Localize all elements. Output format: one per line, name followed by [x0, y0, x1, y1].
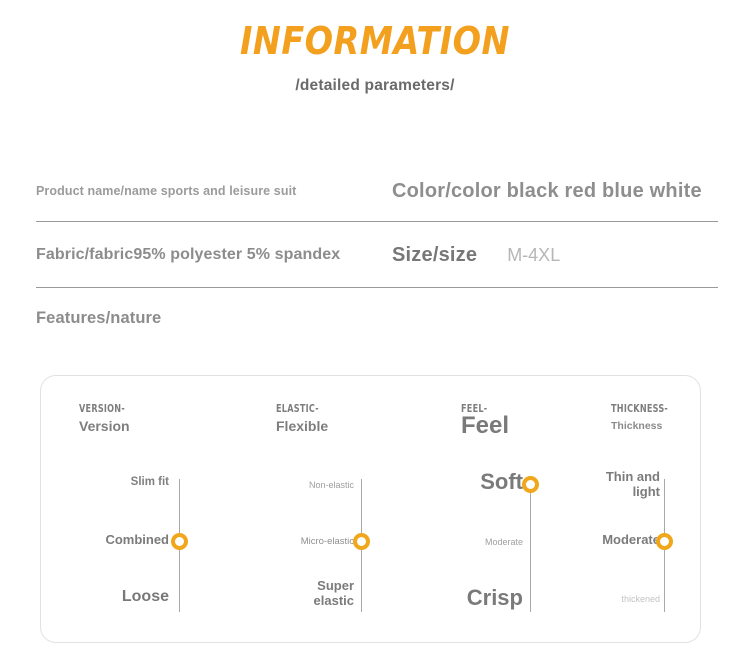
table-row: Product name/name sports and leisure sui… — [36, 160, 718, 222]
fabric-label: Fabric/fabric95% polyester 5% spandex — [36, 246, 340, 264]
spec-cell-fabric: Fabric/fabric95% polyester 5% spandex — [36, 246, 392, 264]
tick-label-1: Combined — [59, 533, 169, 548]
slider-marker[interactable] — [171, 533, 188, 550]
column-caption-en: ELASTIC- — [276, 402, 319, 415]
attributes-card: VERSION- Version Slim fit Combined Loose… — [40, 375, 701, 643]
tick-label-2: Super elastic — [244, 579, 354, 608]
table-row: Features/nature — [36, 288, 718, 348]
spec-cell-size: Size/size M-4XL — [392, 244, 718, 267]
tick-label-2: thickened — [550, 594, 660, 604]
tick-label-1: Micro-elastic — [244, 537, 354, 548]
tick-label-2: Crisp — [413, 586, 523, 611]
table-row: Fabric/fabric95% polyester 5% spandex Si… — [36, 222, 718, 288]
page-title: INFORMATION — [45, 18, 705, 64]
slider-marker[interactable] — [656, 533, 673, 550]
tick-label-0: Non-elastic — [244, 480, 354, 490]
tick-label-1: Moderate — [413, 537, 523, 547]
spec-cell-features: Features/nature — [36, 309, 392, 328]
slider-track[interactable] — [530, 490, 531, 612]
attribute-column-elastic: ELASTIC- Flexible Non-elastic Micro-elas… — [256, 376, 426, 644]
column-caption-sub: Thickness — [611, 420, 662, 432]
tick-label-0: Slim fit — [59, 476, 169, 489]
attribute-column-version: VERSION- Version Slim fit Combined Loose — [79, 376, 249, 644]
tick-label-1: Moderate — [550, 533, 660, 548]
slider-marker[interactable] — [522, 476, 539, 493]
page-subtitle: /detailed parameters/ — [0, 77, 750, 95]
column-caption-sub: Version — [79, 418, 130, 434]
spec-cell-color: Color/color black red blue white — [392, 180, 718, 203]
tick-label-0: Thin and light — [550, 470, 660, 499]
tick-label-0: Soft — [413, 470, 523, 495]
spec-cell-product-name: Product name/name sports and leisure sui… — [36, 184, 392, 198]
features-label: Features/nature — [36, 309, 161, 328]
slider-marker[interactable] — [353, 533, 370, 550]
column-caption-en: THICKNESS- — [611, 402, 668, 415]
attribute-column-thickness: THICKNESS- Thickness Thin and light Mode… — [594, 376, 744, 644]
color-label: Color/color black red blue white — [392, 180, 702, 203]
column-caption-sub: Flexible — [276, 418, 328, 434]
tick-label-2: Loose — [59, 588, 169, 606]
spec-table: Product name/name sports and leisure sui… — [36, 160, 718, 348]
size-label: Size/size — [392, 244, 477, 267]
product-name-label: Product name/name sports and leisure sui… — [36, 184, 296, 198]
size-value: M-4XL — [507, 245, 560, 266]
column-caption-en: VERSION- — [79, 402, 125, 415]
column-caption-sub: Feel — [461, 412, 509, 440]
